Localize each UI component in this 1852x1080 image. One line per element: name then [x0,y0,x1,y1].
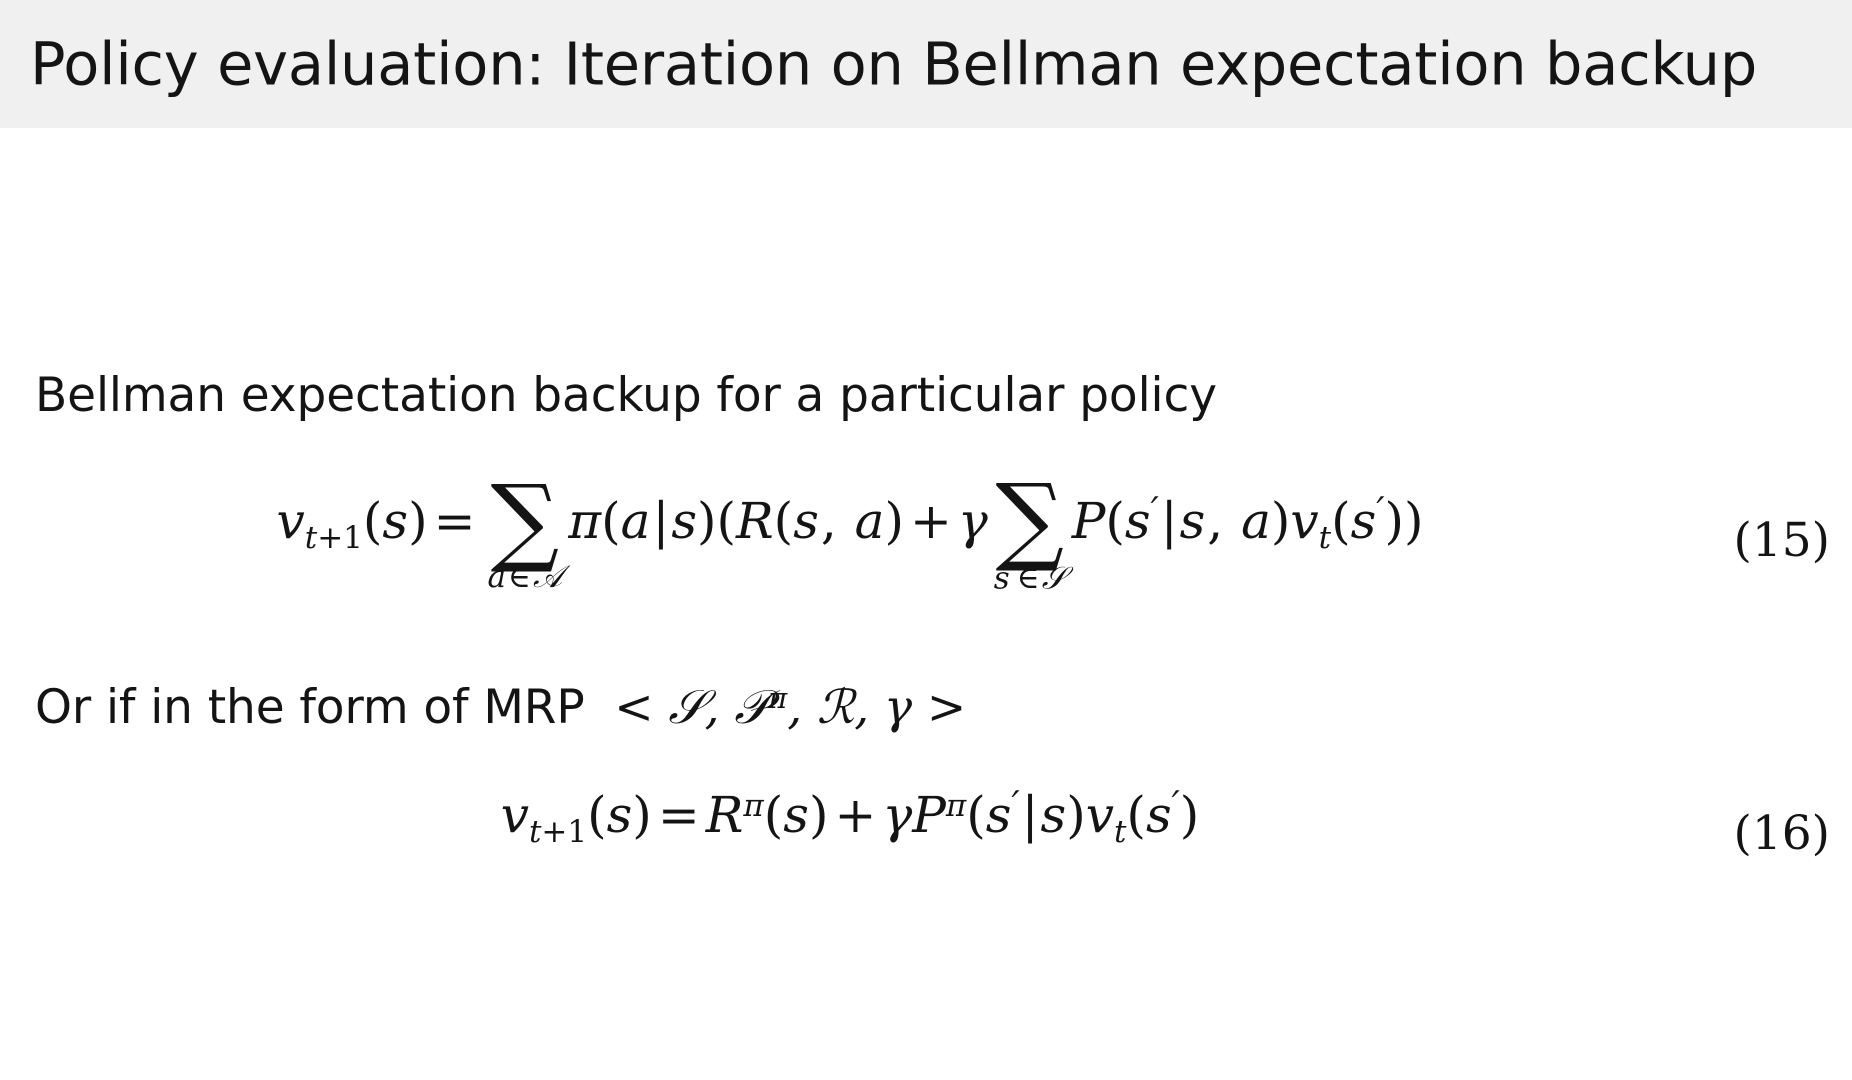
slide-body: Bellman expectation backup for a particu… [0,128,1852,1080]
summation-over-states: ∑s′∈𝒮 [994,480,1066,594]
equation-16-number: (16) [1734,806,1830,861]
equation-16-row: vt+1(s)=Rπ(s)+γPπ(s′|s)vt(s′) (16) [0,788,1852,898]
paragraph-mrp-text: Or if in the form of MRP [35,680,585,735]
equation-15-row: vt+1(s)=∑a∈𝒜π(a|s)(R(s, a)+γ∑s′∈𝒮P(s′|s,… [0,468,1852,628]
equation-16-expression: vt+1(s)=Rπ(s)+γPπ(s′|s)vt(s′) [0,788,1700,848]
equation-15-number: (15) [1734,513,1830,568]
summation-over-actions: ∑a∈𝒜 [488,481,563,593]
equation-15-expression: vt+1(s)=∑a∈𝒜π(a|s)(R(s, a)+γ∑s′∈𝒮P(s′|s,… [0,468,1700,582]
page-title: Policy evaluation: Iteration on Bellman … [30,30,1757,99]
paragraph-bellman-backup: Bellman expectation backup for a particu… [35,368,1217,423]
paragraph-mrp-form: Or if in the form of MRP < 𝒮, 𝒫π, ℛ, γ > [35,680,966,736]
equation-16-math: vt+1(s)=Rπ(s)+γPπ(s′|s)vt(s′) [501,788,1200,848]
equation-15-math: vt+1(s)=∑a∈𝒜π(a|s)(R(s, a)+γ∑s′∈𝒮P(s′|s,… [276,468,1423,582]
slide-title-bar: Policy evaluation: Iteration on Bellman … [0,0,1852,128]
mrp-tuple-math: < 𝒮, 𝒫π, ℛ, γ > [585,680,967,735]
